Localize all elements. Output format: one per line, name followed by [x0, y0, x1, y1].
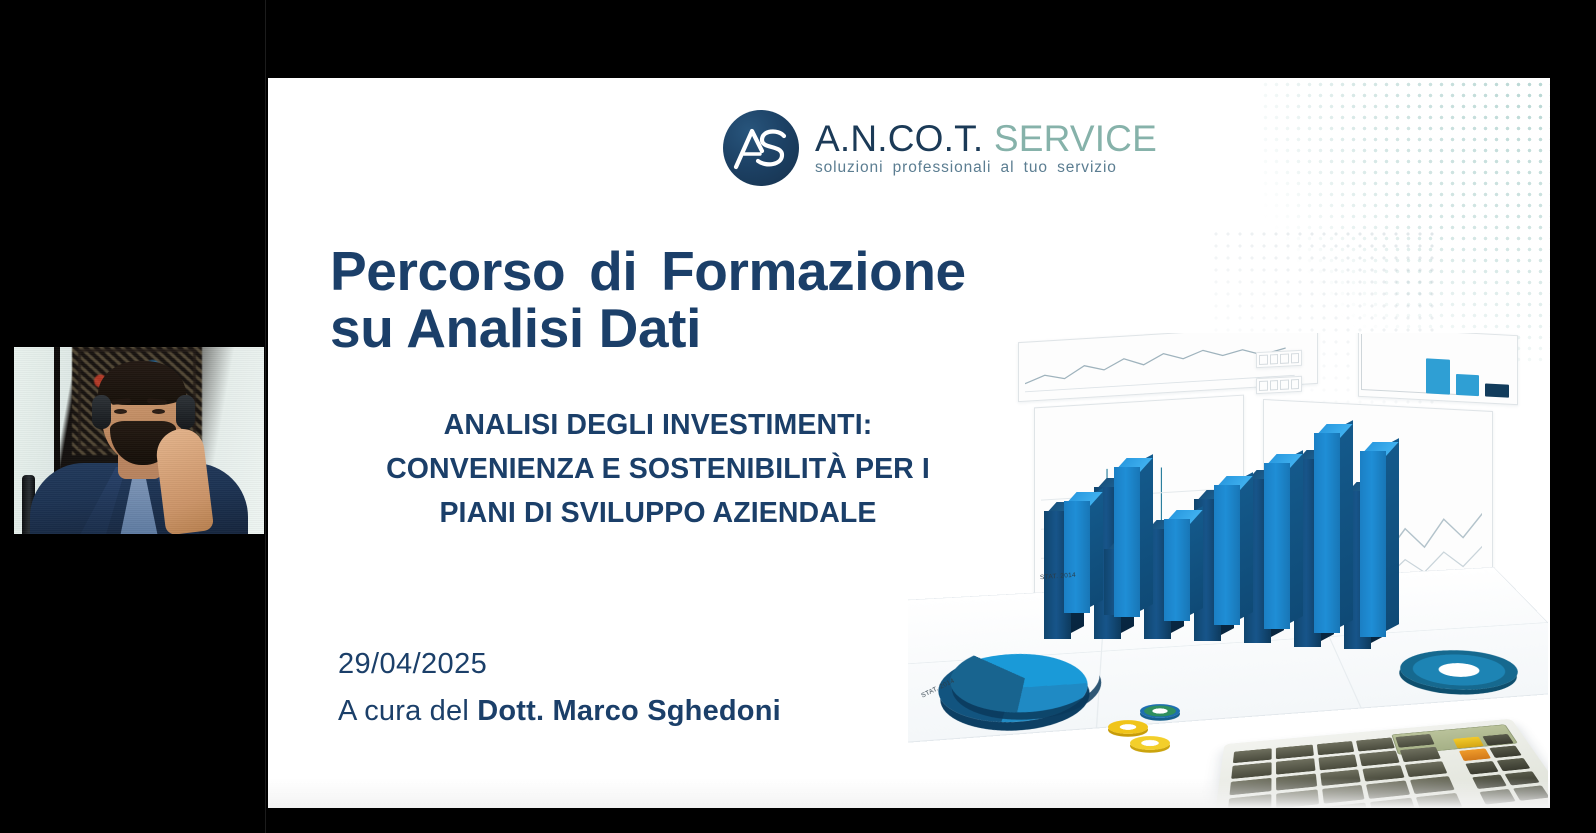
company-logo: A.N.CO.T. SERVICE soluzioni professional…	[723, 110, 1157, 186]
calculator-keypad	[1225, 734, 1462, 808]
participant-video-rail[interactable]	[0, 0, 266, 833]
slide-subtitle-line-2: CONVENIENZA E SOSTENIBILITÀ PER I	[318, 447, 998, 491]
mini-bar-chart	[1367, 352, 1509, 397]
presentation-slide[interactable]: A.N.CO.T. SERVICE soluzioni professional…	[268, 78, 1550, 808]
coin-blue-green	[1140, 704, 1180, 718]
business-analytics-illustration: STAT. 2014 STAT. 2014	[908, 333, 1548, 808]
slide-byline: A cura del Dott. Marco Sghedoni	[338, 695, 781, 728]
slide-subtitle-line-3: PIANI DI SVILUPPO AZIENDALE	[318, 491, 998, 535]
slide-date: 29/04/2025	[338, 648, 487, 681]
logo-tagline: soluzioni professionali al tuo servizio	[815, 159, 1157, 177]
table-strip-upper	[1256, 350, 1302, 368]
logo-name-primary: A.N.CO.T.	[815, 118, 983, 159]
coin-gold	[1130, 736, 1170, 750]
bar-front-5	[1264, 463, 1290, 629]
byline-prefix: A cura del	[338, 695, 477, 727]
webcam-headset-left-cup	[92, 395, 111, 429]
table-cells	[1259, 379, 1299, 391]
bar-front-6	[1314, 433, 1340, 633]
calculator-function-keys	[1453, 734, 1548, 805]
webcam-eye-left	[114, 409, 127, 414]
bar-front-4	[1214, 485, 1240, 625]
slide-subtitle-line-1: ANALISI DEGLI INVESTIMENTI:	[318, 403, 998, 447]
bar-front-3	[1164, 519, 1190, 621]
bar-front-1	[1064, 501, 1090, 613]
slide-title-line-1: Percorso di Formazione	[330, 243, 1090, 300]
logo-name-secondary: SERVICE	[994, 118, 1157, 159]
mini-chart-axis	[1361, 334, 1362, 390]
logo-name-line: A.N.CO.T. SERVICE	[815, 120, 1157, 157]
webcam-eye-right	[152, 409, 165, 414]
speaker-video-tile[interactable]	[14, 347, 264, 534]
as-monogram-icon	[723, 110, 799, 186]
coin-yellow	[1108, 720, 1148, 734]
bar-front-2	[1114, 467, 1140, 617]
table-cells	[1259, 353, 1299, 365]
screen: A.N.CO.T. SERVICE soluzioni professional…	[0, 0, 1596, 833]
chart-panel-minibars	[1358, 333, 1518, 405]
slide-subtitle: ANALISI DEGLI INVESTIMENTI: CONVENIENZA …	[318, 403, 998, 536]
logo-wordmark: A.N.CO.T. SERVICE soluzioni professional…	[815, 120, 1157, 177]
byline-presenter-name: Dott. Marco Sghedoni	[477, 695, 781, 727]
pie-chart-3d	[931, 648, 1095, 728]
bar-front-7	[1360, 451, 1386, 637]
table-strip-lower	[1256, 376, 1302, 394]
webcam-headset-right-cup	[176, 395, 195, 429]
calculator	[1211, 719, 1548, 808]
